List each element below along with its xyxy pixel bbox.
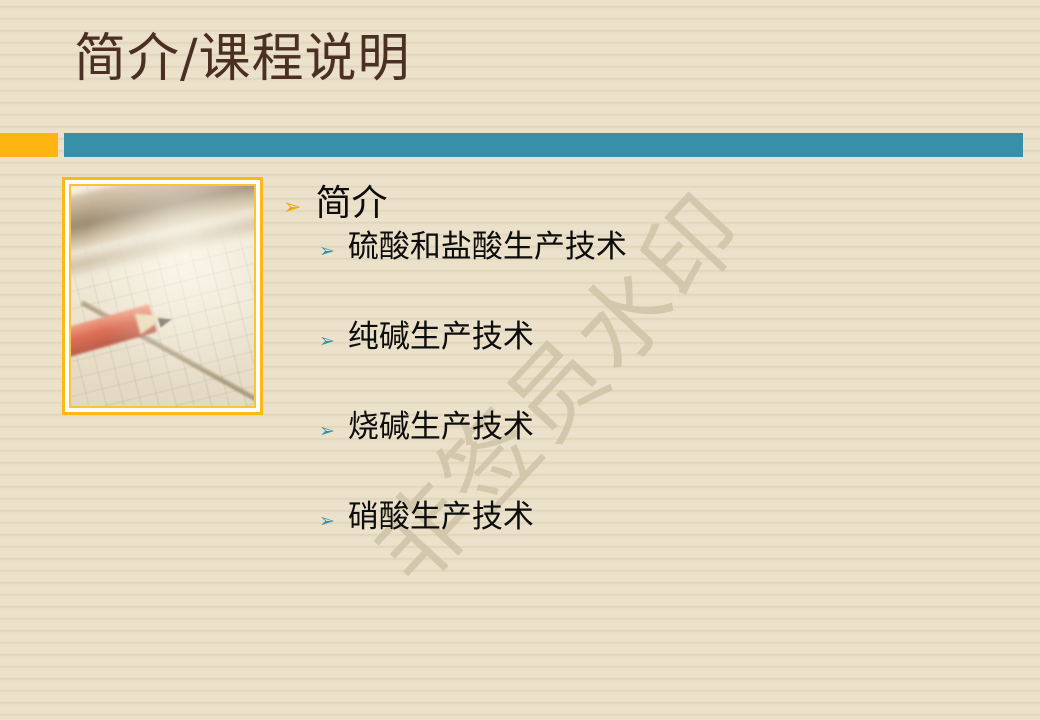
sub-bullet-arrow-icon: ➢ bbox=[319, 412, 335, 441]
picture-frame bbox=[62, 177, 263, 415]
list-item: ➢ 纯碱生产技术 bbox=[319, 322, 983, 353]
slide-canvas: 非签员水印 简介/课程说明 ➢ 简介 ➢ 硫酸和盐酸生产技术 bbox=[0, 0, 1040, 720]
bullet-level1: ➢ 简介 bbox=[283, 186, 983, 222]
page-title: 简介/课程说明 bbox=[74, 30, 411, 90]
list-item: ➢ 硫酸和盐酸生产技术 bbox=[319, 232, 983, 263]
sub-bullet-arrow-icon: ➢ bbox=[319, 322, 335, 351]
sub-bullet-arrow-icon: ➢ bbox=[319, 502, 335, 531]
bullet-arrow-icon: ➢ bbox=[283, 186, 301, 219]
photo-light-wash bbox=[71, 186, 254, 406]
list-item-label: 硝酸生产技术 bbox=[348, 502, 534, 533]
divider-accent-block bbox=[0, 133, 58, 157]
list-item: ➢ 烧碱生产技术 bbox=[319, 412, 983, 443]
list-item-label: 纯碱生产技术 bbox=[348, 322, 534, 353]
content-body: ➢ 简介 ➢ 硫酸和盐酸生产技术 ➢ 纯碱生产技术 ➢ 烧碱生产技术 ➢ 硝酸生… bbox=[283, 186, 983, 533]
sub-bullet-arrow-icon: ➢ bbox=[319, 232, 335, 261]
list-item-label: 硫酸和盐酸生产技术 bbox=[348, 232, 627, 263]
picture-inner-border bbox=[69, 184, 256, 408]
list-item: ➢ 硝酸生产技术 bbox=[319, 502, 983, 533]
divider-bar-row bbox=[0, 133, 1040, 157]
divider-main-bar bbox=[64, 133, 1023, 157]
bullet-level1-label: 简介 bbox=[315, 186, 387, 222]
list-item-label: 烧碱生产技术 bbox=[348, 412, 534, 443]
